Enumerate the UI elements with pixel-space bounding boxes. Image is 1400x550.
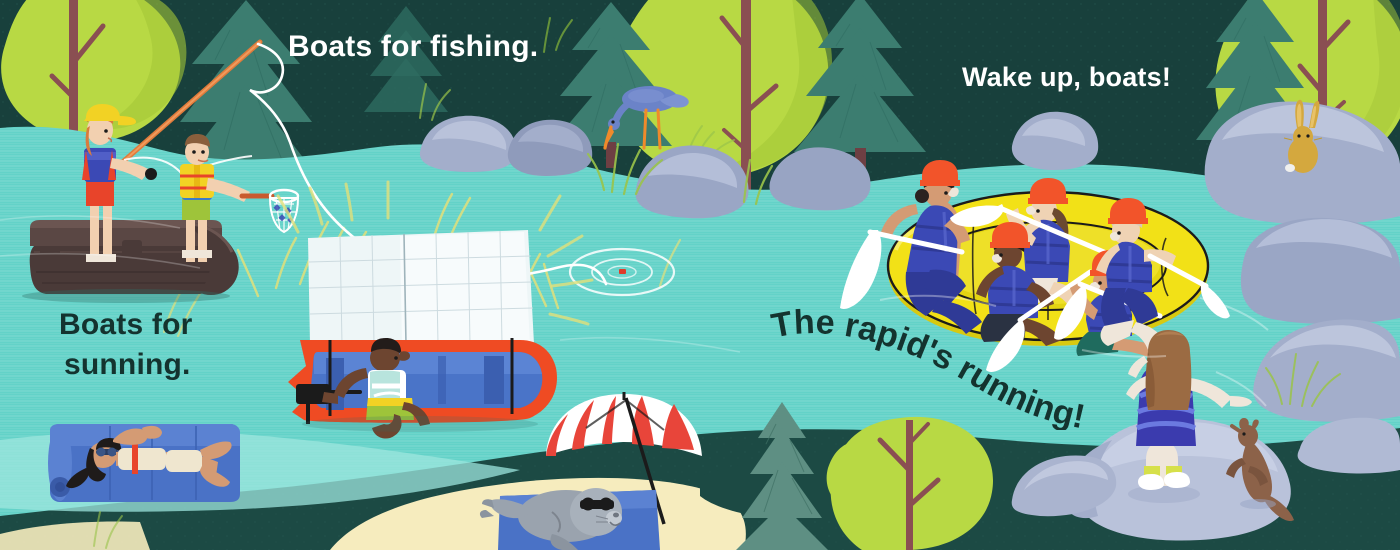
illustration-canvas: Boats for fishing. Wake up, boats! Boats… [0, 0, 1400, 550]
label-boats-for-sunning-line1: Boats for [59, 308, 192, 342]
boat-canopy [308, 230, 534, 344]
svg-text:The rapid's running!: The rapid's running! [768, 303, 1088, 430]
label-the-rapids-running: The rapid's running! [760, 300, 1100, 430]
label-boats-for-fishing: Boats for fishing. [288, 30, 538, 64]
label-boats-for-sunning-line2: sunning. [64, 348, 191, 382]
sunbather-float [48, 424, 240, 502]
scene-artwork [0, 0, 1400, 550]
seal-sunbather [480, 488, 660, 550]
the-rapids-running-textpath: The rapid's running! [768, 303, 1088, 430]
label-wake-up-boats: Wake up, boats! [962, 62, 1171, 93]
